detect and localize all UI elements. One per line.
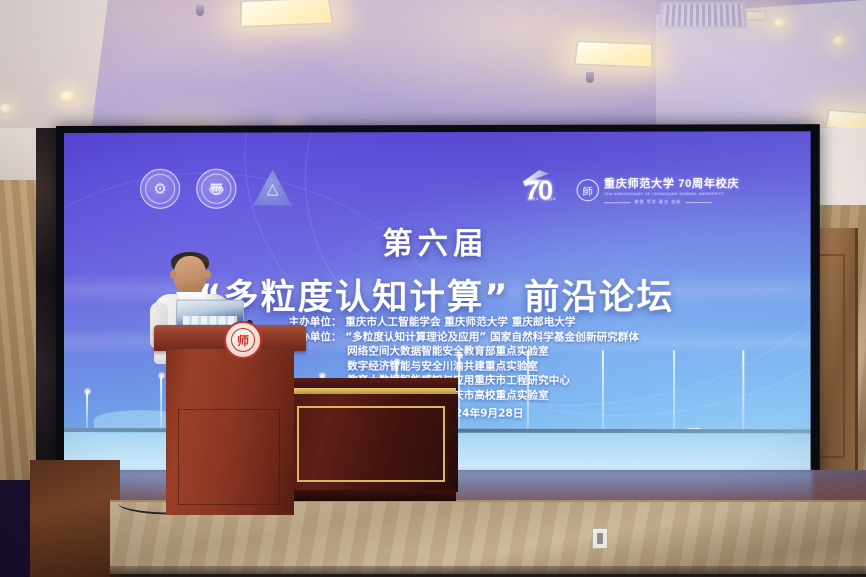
table-base (290, 490, 456, 501)
conference-hall-photo: ⚙ 〠 △ 70 1954 · 2024 師 (0, 0, 866, 577)
left-dark-recess (36, 128, 58, 480)
ceiling-speaker (196, 5, 204, 16)
ceiling-speaker (586, 72, 594, 83)
bridge-pylon (742, 350, 744, 429)
stage-left-step (30, 460, 120, 577)
wall-power-outlet (592, 528, 608, 549)
ceiling-panel-light (745, 11, 767, 21)
ceiling-downlight (0, 104, 11, 113)
bridge-pylon (602, 350, 604, 429)
ceiling-panel-light (573, 41, 653, 69)
anniversary-years: 1954 · 2024 (527, 183, 556, 215)
organizer-line: 承办单位： “多粒度认知计算理论及应用” 国家自然科学基金创新研究群体 (289, 330, 765, 345)
ceiling-downlight (773, 18, 786, 28)
bridge-pylon (527, 350, 529, 429)
table-front-panel (286, 394, 458, 492)
speaker-ear (170, 270, 176, 279)
triangle-institute-seal-icon: △ (252, 169, 292, 209)
bridge-pylon (86, 392, 88, 428)
anniversary-en-text: 70th ANNIVERSARY OF CHONGQING NORMAL UNI… (604, 192, 739, 196)
podium-body (166, 349, 294, 515)
anniversary-motto: 厚德 笃学 砺志 创新 (604, 199, 739, 205)
bridge-pylon (673, 350, 675, 429)
anniversary-cn-text: 重庆师范大学 70周年校庆 (604, 175, 739, 191)
stage-side-table (286, 378, 458, 506)
ceiling-downlight (60, 91, 75, 101)
anniversary-number: 70 1954 · 2024 (525, 174, 572, 206)
society-seal-icon: 〠 (196, 169, 236, 209)
bridge-pylon (458, 356, 460, 428)
partner-logos: ⚙ 〠 △ (140, 169, 293, 209)
organizer-line: 主办单位： 重庆市人工智能学会 重庆师范大学 重庆邮电大学 (289, 315, 765, 330)
ceiling-left-wall (0, 0, 108, 140)
ceiling-panel-light (239, 0, 334, 28)
chinese-association-seal-icon: ⚙ (140, 169, 180, 209)
left-marble-pillar (0, 180, 36, 480)
speaker-ear (205, 270, 211, 279)
university-mark-icon: 師 (577, 179, 599, 201)
ceiling-downlight (833, 36, 845, 45)
anniversary-emblem: 70 1954 · 2024 師 重庆师范大学 70周年校庆 70th ANNI… (525, 174, 739, 207)
left-upper-wall (0, 128, 36, 184)
speaking-podium: 师 (154, 325, 306, 515)
stage-base-shadow (110, 566, 866, 577)
university-emblem: 师 (224, 321, 262, 359)
ceiling-air-vent (659, 2, 747, 28)
